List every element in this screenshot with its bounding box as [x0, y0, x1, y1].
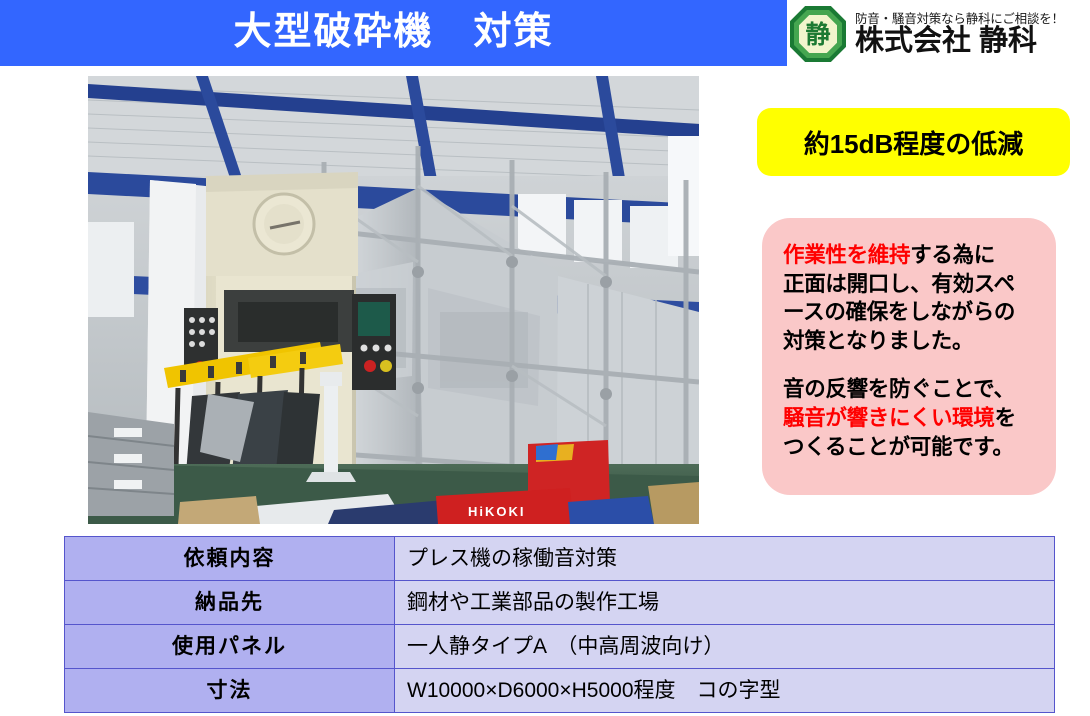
note-line-4: 対策となりました。 — [783, 327, 1052, 356]
table-row: 寸法 W10000×D6000×H5000程度 コの字型 — [65, 669, 1055, 713]
seal-character: 静 — [805, 22, 830, 47]
logo-text-block: 防音・騒音対策なら静科にご相談を！ 株式会社 静科 — [855, 12, 1064, 57]
row-label: 寸法 — [65, 669, 395, 713]
row-label: 依頼内容 — [65, 537, 395, 581]
row-value: プレス機の稼働音対策 — [395, 537, 1055, 581]
note-line-5: 音の反響を防ぐことで、 — [783, 375, 1052, 404]
note-line-1-highlight: 作業性を維持 — [783, 243, 910, 267]
description-note: 作業性を維持する為に 正面は開口し、有効スペ ースの確保をしながらの 対策となり… — [762, 218, 1056, 495]
logo-company-name: 株式会社 静科 — [855, 26, 1064, 56]
table-row: 使用パネル 一人静タイプA （中高周波向け） — [65, 625, 1055, 669]
reduction-callout: 約15dB程度の低減 — [757, 108, 1070, 176]
installation-photo: AIDA — [88, 76, 699, 524]
note-line-1-rest: する為に — [910, 243, 995, 267]
note-line-2: 正面は開口し、有効スペ — [783, 270, 1052, 299]
note-paragraph-gap — [783, 355, 1052, 375]
note-line-7: つくることが可能です。 — [783, 433, 1052, 462]
table-row: 依頼内容 プレス機の稼働音対策 — [65, 537, 1055, 581]
spec-table: 依頼内容 プレス機の稼働音対策 納品先 鋼材や工業部品の製作工場 使用パネル 一… — [64, 536, 1055, 713]
svg-text:HiKOKI: HiKOKI — [468, 504, 526, 519]
spec-table-body: 依頼内容 プレス機の稼働音対策 納品先 鋼材や工業部品の製作工場 使用パネル 一… — [65, 537, 1055, 713]
row-value: 鋼材や工業部品の製作工場 — [395, 581, 1055, 625]
row-value: W10000×D6000×H5000程度 コの字型 — [395, 669, 1055, 713]
table-row: 納品先 鋼材や工業部品の製作工場 — [65, 581, 1055, 625]
note-line-3: ースの確保をしながらの — [783, 298, 1052, 327]
shizuka-seal-icon: 静 — [790, 6, 846, 62]
photo-illustration: AIDA — [88, 76, 699, 524]
octagon-inner-face: 静 — [799, 15, 837, 53]
note-line-6: 騒音が響きにくい環境を — [783, 404, 1052, 433]
page-title: 大型破砕機 対策 — [0, 0, 787, 66]
note-line-6-highlight: 騒音が響きにくい環境 — [783, 406, 995, 430]
row-label: 使用パネル — [65, 625, 395, 669]
row-label: 納品先 — [65, 581, 395, 625]
note-line-1: 作業性を維持する為に — [783, 241, 1052, 270]
row-value: 一人静タイプA （中高周波向け） — [395, 625, 1055, 669]
company-logo: 静 防音・騒音対策なら静科にご相談を！ 株式会社 静科 — [790, 3, 1088, 65]
logo-tagline: 防音・騒音対策なら静科にご相談を！ — [855, 12, 1064, 26]
note-line-6-rest: を — [995, 406, 1016, 430]
